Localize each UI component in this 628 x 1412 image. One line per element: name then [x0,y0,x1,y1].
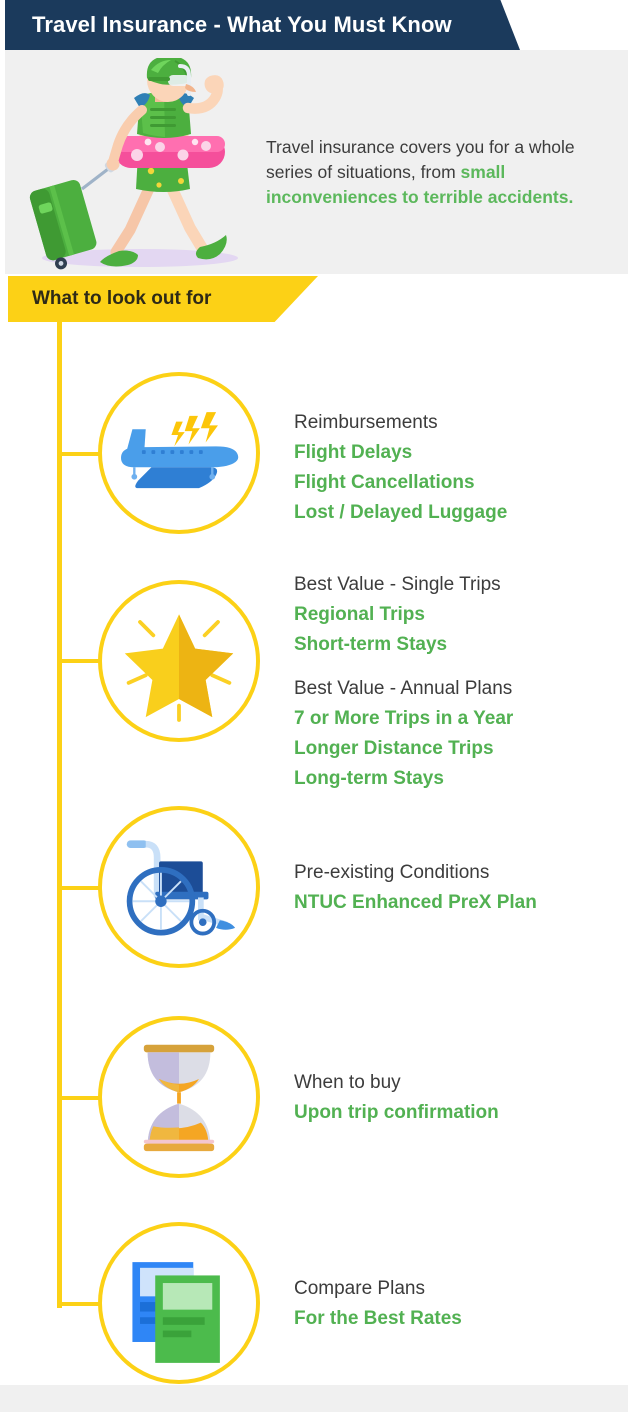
traveler-with-suitcase-illustration [20,58,260,273]
list-item: Best Value - Single Trips Regional Trips… [0,580,628,780]
item-text: Reimbursements Flight Delays Flight Canc… [294,408,628,528]
list-item: Reimbursements Flight Delays Flight Canc… [0,372,628,542]
icon-circle[interactable] [98,1222,260,1384]
section-banner: What to look out for [0,276,628,322]
list-item: Pre-existing Conditions NTUC Enhanced Pr… [0,806,628,976]
list-item: Compare Plans For the Best Rates [0,1222,628,1394]
text-group: Best Value - Annual Plans 7 or More Trip… [294,674,628,794]
item-line: Upon trip confirmation [294,1098,628,1128]
item-heading: When to buy [294,1068,628,1098]
item-line: Longer Distance Trips [294,734,628,764]
item-line: Flight Cancellations [294,468,628,498]
text-group: Pre-existing Conditions NTUC Enhanced Pr… [294,858,628,918]
item-line: 7 or More Trips in a Year [294,704,628,734]
list-item: When to buy Upon trip confirmation [0,1016,628,1188]
hourglass-icon [102,1020,256,1174]
item-heading: Reimbursements [294,408,628,438]
star-icon [102,584,256,738]
item-heading: Pre-existing Conditions [294,858,628,888]
item-heading: Compare Plans [294,1274,628,1304]
item-line: Long-term Stays [294,764,628,794]
item-text: When to buy Upon trip confirmation [294,1068,628,1128]
airplane-delay-icon [102,376,256,530]
item-heading: Best Value - Single Trips [294,570,628,600]
footer-strip [0,1385,628,1412]
icon-circle[interactable] [98,372,260,534]
item-heading: Best Value - Annual Plans [294,674,628,704]
page-title: Travel Insurance - What You Must Know [32,0,452,50]
item-line: NTUC Enhanced PreX Plan [294,888,628,918]
text-group: Best Value - Single Trips Regional Trips… [294,570,628,660]
wheelchair-icon [102,810,256,964]
item-text: Compare Plans For the Best Rates [294,1274,628,1334]
text-group: When to buy Upon trip confirmation [294,1068,628,1128]
text-group: Compare Plans For the Best Rates [294,1274,628,1334]
item-text: Pre-existing Conditions NTUC Enhanced Pr… [294,858,628,918]
item-line: For the Best Rates [294,1304,628,1334]
documents-compare-icon [102,1226,256,1380]
item-text: Best Value - Single Trips Regional Trips… [294,570,628,794]
icon-circle[interactable] [98,580,260,742]
item-line: Regional Trips [294,600,628,630]
item-line: Lost / Delayed Luggage [294,498,628,528]
item-line: Short-term Stays [294,630,628,660]
header-banner: Travel Insurance - What You Must Know [0,0,628,50]
intro-text-plain: Travel insurance covers you for a whole … [266,137,575,182]
icon-circle[interactable] [98,806,260,968]
intro-section: Travel insurance covers you for a whole … [5,50,628,274]
intro-paragraph: Travel insurance covers you for a whole … [266,135,616,210]
text-group: Reimbursements Flight Delays Flight Canc… [294,408,628,528]
section-title: What to look out for [32,276,211,322]
icon-circle[interactable] [98,1016,260,1178]
item-line: Flight Delays [294,438,628,468]
